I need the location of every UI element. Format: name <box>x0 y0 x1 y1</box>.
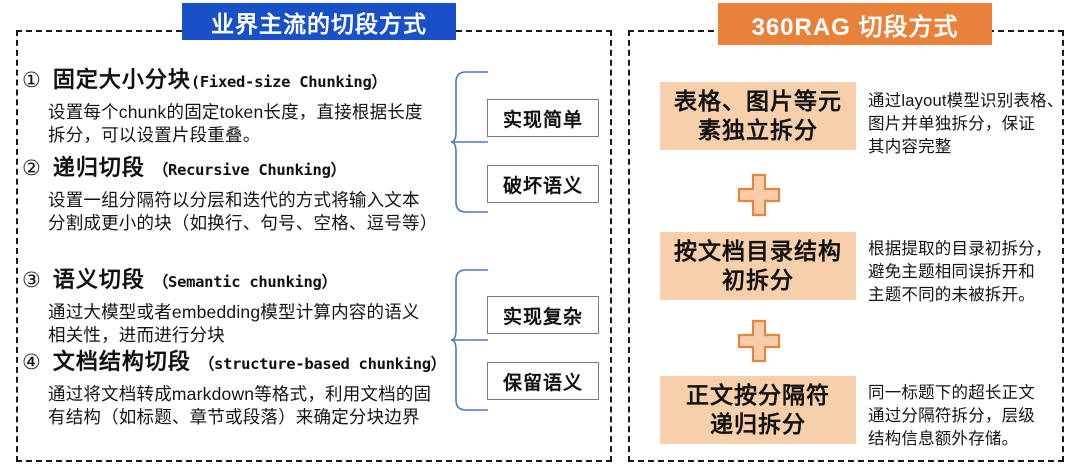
chunking-method-item-4: ④ 文档结构切段 （structure-based chunking） 通过将文… <box>22 344 446 430</box>
item-1-heading-cn: 固定大小分块 <box>53 62 191 94</box>
tag-2-label: 破坏语义 <box>503 171 583 198</box>
item-4-number: ④ <box>22 352 41 373</box>
step-box-2-label: 按文档目录结构 初拆分 <box>674 237 842 296</box>
item-2-heading-en: （Recursive Chunking） <box>153 158 346 180</box>
item-4-body: 通过将文档转成markdown等格式，利用文档的固 有结构（如标题、章节或段落）… <box>48 383 446 430</box>
item-2-number: ② <box>22 158 41 179</box>
chunking-method-item-1: ① 固定大小分块 (Fixed-size Chunking） 设置每个chunk… <box>22 62 423 148</box>
right-panel-title: 360RAG 切段方式 <box>718 3 992 45</box>
bracket-lower <box>450 268 492 414</box>
plus-icon-2 <box>736 318 782 369</box>
tag-4-label: 保留语义 <box>503 368 583 395</box>
step-desc-1: 通过layout模型识别表格、 图片并单独拆分，保证 其内容完整 <box>868 90 1068 158</box>
step-desc-3: 同一标题下的超长正文 通过分隔符拆分，层级 结构信息额外存储。 <box>868 382 1068 450</box>
chunking-method-item-2: ② 递归切段 （Recursive Chunking） 设置一组分隔符以分层和迭… <box>22 150 437 236</box>
item-4-heading-cn: 文档结构切段 <box>53 344 191 376</box>
tag-3-label: 实现复杂 <box>503 302 583 329</box>
item-2-heading-cn: 递归切段 <box>53 150 145 182</box>
item-2-heading: ② 递归切段 （Recursive Chunking） <box>22 150 437 182</box>
tag-box-preserves-semantics: 保留语义 <box>487 362 599 400</box>
item-1-heading-en: (Fixed-size Chunking） <box>191 70 387 92</box>
left-panel-title: 业界主流的切段方式 <box>182 3 456 40</box>
item-4-heading-en: （structure-based chunking） <box>199 352 446 374</box>
step-box-1-label: 表格、图片等元 素独立拆分 <box>674 87 842 146</box>
step-box-3-label: 正文按分隔符 递归拆分 <box>686 381 830 440</box>
item-1-heading: ① 固定大小分块 (Fixed-size Chunking） <box>22 62 423 94</box>
tag-box-implementation-simple: 实现简单 <box>487 99 599 137</box>
item-3-heading: ③ 语义切段 （Semantic chunking） <box>22 262 420 294</box>
left-panel-title-text: 业界主流的切段方式 <box>211 5 427 39</box>
item-1-body: 设置每个chunk的固定token长度，直接根据长度 拆分，可以设置片段重叠。 <box>48 101 423 148</box>
item-3-number: ③ <box>22 270 41 291</box>
tag-1-label: 实现简单 <box>503 105 583 132</box>
right-panel-title-text: 360RAG 切段方式 <box>751 7 958 42</box>
chunking-method-item-3: ③ 语义切段 （Semantic chunking） 通过大模型或者embedd… <box>22 262 420 348</box>
plus-icon-1 <box>736 172 782 223</box>
tag-box-breaks-semantics: 破坏语义 <box>487 165 599 203</box>
item-3-body: 通过大模型或者embedding模型计算内容的语义 相关性，进而进行分块 <box>48 301 420 348</box>
step-box-2: 按文档目录结构 初拆分 <box>660 232 856 300</box>
slide-canvas: 业界主流的切段方式 360RAG 切段方式 ① 固定大小分块 (Fixed-si… <box>0 0 1080 470</box>
item-1-number: ① <box>22 70 41 91</box>
item-4-heading: ④ 文档结构切段 （structure-based chunking） <box>22 344 446 376</box>
step-box-3: 正文按分隔符 递归拆分 <box>660 376 856 444</box>
item-3-heading-cn: 语义切段 <box>53 262 145 294</box>
item-2-body: 设置一组分隔符以分层和迭代的方式将输入文本 分割成更小的块（如换行、句号、空格、… <box>48 189 437 236</box>
tag-box-implementation-complex: 实现复杂 <box>487 296 599 334</box>
step-box-1: 表格、图片等元 素独立拆分 <box>660 82 856 150</box>
bracket-upper <box>450 70 492 216</box>
item-3-heading-en: （Semantic chunking） <box>153 270 337 292</box>
step-desc-2: 根据提取的目录初拆分， 避免主题相同误拆开和 主题不同的未被拆开。 <box>868 238 1068 306</box>
